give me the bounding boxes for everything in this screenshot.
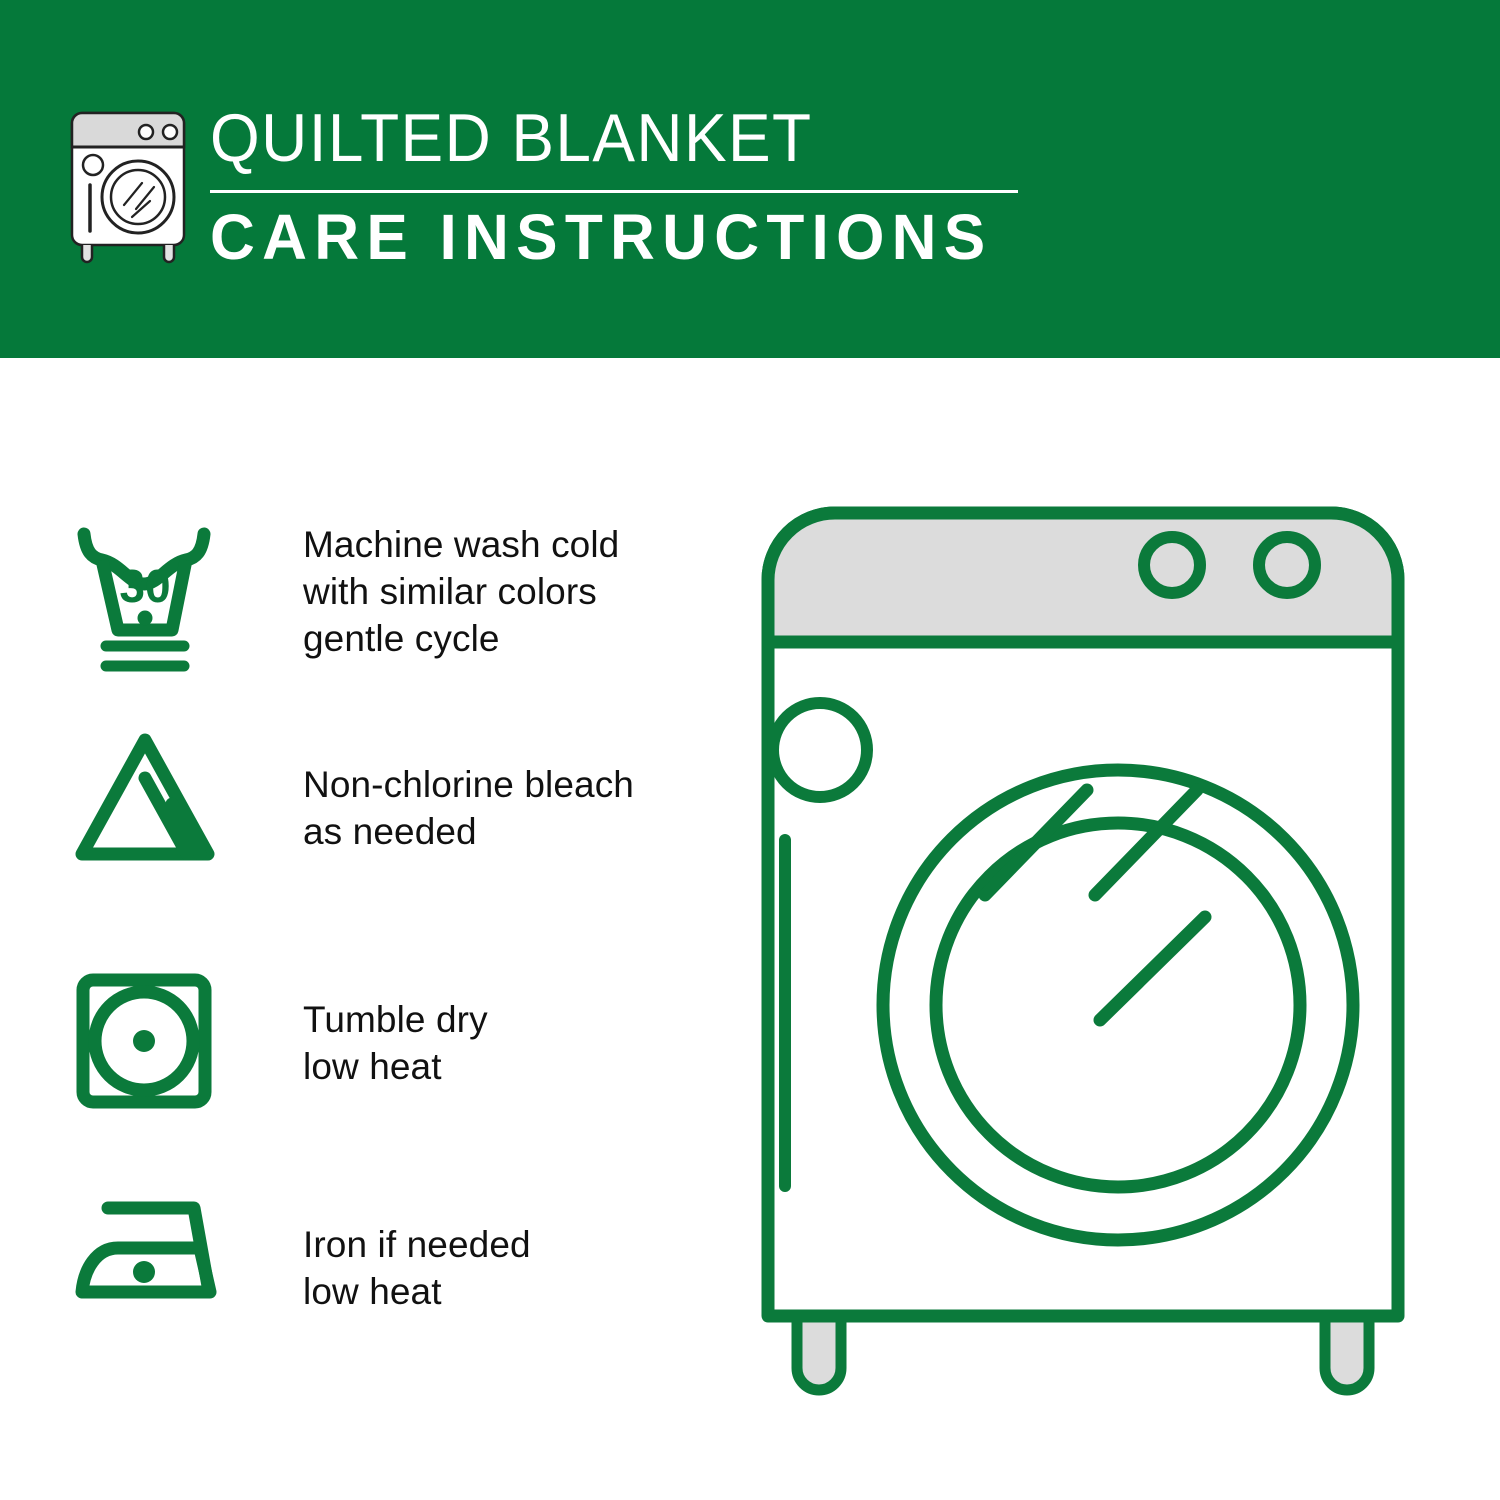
header-band: QUILTED BLANKET CARE INSTRUCTIONS: [0, 0, 1500, 358]
title-divider: [210, 190, 1018, 193]
wash-tub-30-gentle-icon: 30: [72, 518, 247, 678]
page-subtitle: CARE INSTRUCTIONS: [210, 198, 992, 276]
tumble-dry-low-heat-icon: [72, 966, 247, 1116]
page-title: QUILTED BLANKET: [210, 100, 812, 176]
care-text-bleach: Non-chlorine bleach as needed: [303, 761, 634, 855]
care-instruction-list: 30 Machine wash cold with similar colors…: [0, 358, 740, 1500]
washing-machine-icon: [62, 105, 202, 265]
care-row-iron: Iron if needed low heat: [0, 1186, 700, 1346]
front-load-washing-machine-illustration: [735, 480, 1465, 1430]
iron-low-heat-icon: [72, 1186, 257, 1326]
care-row-bleach: Non-chlorine bleach as needed: [0, 726, 700, 896]
care-instructions-page: QUILTED BLANKET CARE INSTRUCTIONS: [0, 0, 1500, 1500]
care-text-wash: Machine wash cold with similar colors ge…: [303, 521, 619, 662]
care-row-tumble-dry: Tumble dry low heat: [0, 966, 700, 1131]
header-text-block: QUILTED BLANKET CARE INSTRUCTIONS: [210, 100, 1040, 275]
wash-temperature-label: 30: [119, 560, 170, 612]
care-text-tumble-dry: Tumble dry low heat: [303, 996, 488, 1090]
care-row-wash: 30 Machine wash cold with similar colors…: [0, 518, 700, 708]
non-chlorine-bleach-triangle-icon: [72, 726, 247, 876]
care-text-iron: Iron if needed low heat: [303, 1221, 531, 1315]
